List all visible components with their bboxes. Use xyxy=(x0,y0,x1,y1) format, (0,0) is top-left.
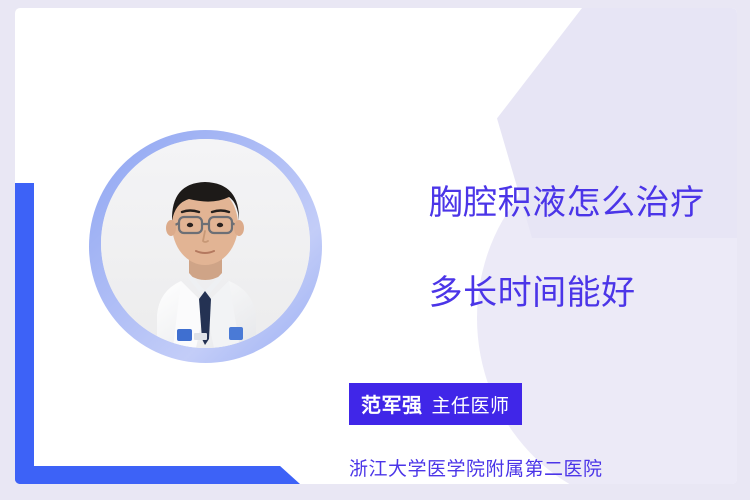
title-line-2: 多长时间能好 xyxy=(429,274,636,312)
doctor-rank: 主任医师 xyxy=(432,396,510,417)
accent-bar-left xyxy=(15,183,34,484)
doctor-badge: 范军强主任医师 xyxy=(349,383,522,425)
doctor-info-card-image: 胸腔积液怎么治疗 多长时间能好 范军强主任医师 浙江大学医学院附属第二医院 胸外… xyxy=(0,0,750,500)
white-card: 胸腔积液怎么治疗 多长时间能好 范军强主任医师 浙江大学医学院附属第二医院 胸外… xyxy=(15,8,737,484)
doctor-name: 范军强 xyxy=(361,395,423,417)
title-line-1: 胸腔积液怎么治疗 xyxy=(429,184,705,222)
doctor-portrait-icon xyxy=(101,139,310,348)
accent-bar-bottom xyxy=(15,466,300,484)
hospital-name: 浙江大学医学院附属第二医院 xyxy=(349,448,719,484)
doctor-affiliation: 浙江大学医学院附属第二医院 胸外科 xyxy=(349,448,719,484)
avatar-photo xyxy=(101,139,310,348)
page-title: 胸腔积液怎么治疗 多长时间能好 xyxy=(349,136,719,361)
info-column: 胸腔积液怎么治疗 多长时间能好 范军强主任医师 浙江大学医学院附属第二医院 胸外… xyxy=(349,136,719,484)
avatar xyxy=(89,130,322,363)
